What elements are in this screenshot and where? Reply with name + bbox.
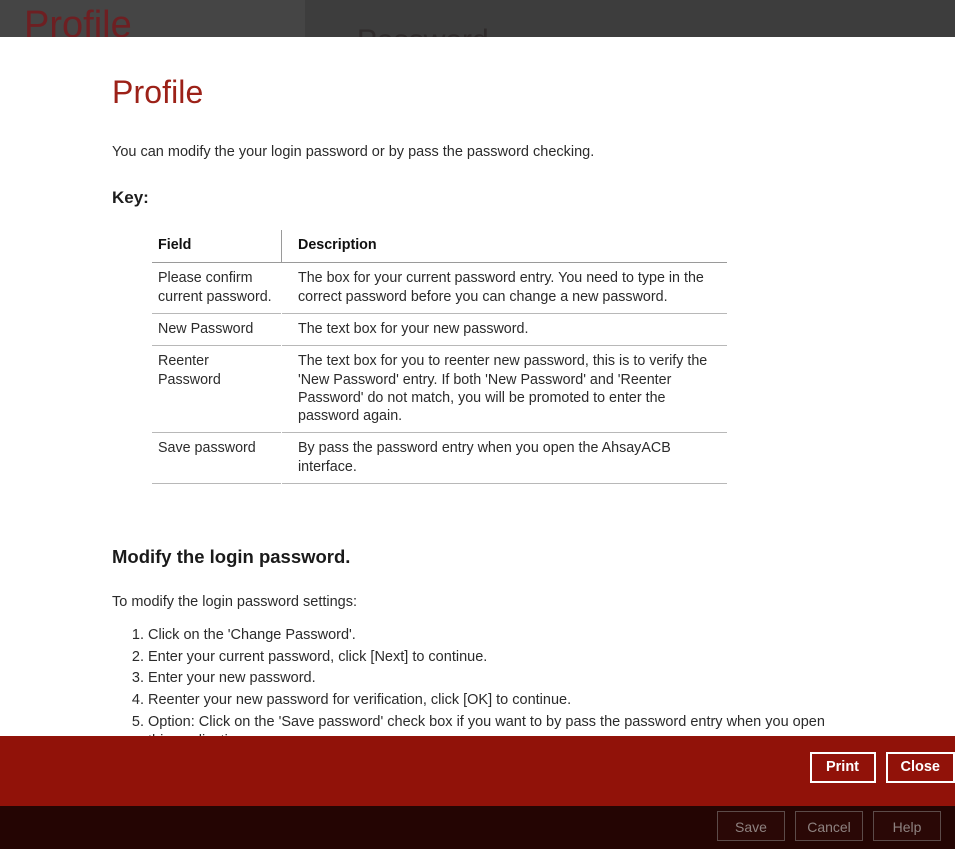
- table-row: New Password The text box for your new p…: [152, 313, 727, 345]
- key-table-wrapper: Field Description Please confirm current…: [112, 208, 955, 484]
- column-header-description: Description: [282, 230, 728, 263]
- intro-paragraph: You can modify the your login password o…: [112, 110, 955, 162]
- help-button[interactable]: Help: [873, 811, 941, 841]
- list-item: Enter your current password, click [Next…: [148, 648, 848, 670]
- cell-field: New Password: [152, 313, 282, 345]
- help-action-buttons: Print Close: [810, 752, 955, 783]
- screen-root: Profile Password Profile You can modify …: [0, 0, 955, 849]
- cell-field: Save password: [152, 433, 282, 484]
- key-heading: Key:: [112, 162, 955, 208]
- procedure-list: Click on the 'Change Password'. Enter yo…: [112, 610, 848, 736]
- tab-password[interactable]: Password: [305, 0, 705, 37]
- save-button[interactable]: Save: [717, 811, 785, 841]
- table-row: Please confirm current password. The box…: [152, 263, 727, 314]
- cancel-button[interactable]: Cancel: [795, 811, 863, 841]
- key-table-body: Please confirm current password. The box…: [152, 263, 727, 484]
- cell-description: The text box for you to reenter new pass…: [282, 346, 728, 433]
- cell-description: The box for your current password entry.…: [282, 263, 728, 314]
- page-title: Profile: [112, 37, 955, 110]
- help-overlay-panel: Profile You can modify the your login pa…: [0, 37, 955, 736]
- procedure-heading: Modify the login password.: [112, 484, 955, 568]
- procedure-intro: To modify the login password settings:: [112, 568, 955, 610]
- key-table: Field Description Please confirm current…: [152, 230, 727, 484]
- print-button[interactable]: Print: [810, 752, 876, 783]
- cell-description: By pass the password entry when you open…: [282, 433, 728, 484]
- list-item: Reenter your new password for verificati…: [148, 691, 848, 713]
- table-row: Reenter Password The text box for you to…: [152, 346, 727, 433]
- list-item: Option: Click on the 'Save password' che…: [148, 713, 848, 736]
- column-header-field: Field: [152, 230, 282, 263]
- close-button[interactable]: Close: [886, 752, 955, 783]
- list-item: Click on the 'Change Password'.: [148, 626, 848, 648]
- cell-description: The text box for your new password.: [282, 313, 728, 345]
- host-footer-bar: Save Cancel Help: [0, 806, 955, 849]
- host-tab-strip: Profile Password: [0, 0, 955, 37]
- key-table-head: Field Description: [152, 230, 727, 263]
- tab-profile[interactable]: Profile: [0, 0, 305, 37]
- cell-field: Reenter Password: [152, 346, 282, 433]
- list-item: Enter your new password.: [148, 669, 848, 691]
- table-row: Save password By pass the password entry…: [152, 433, 727, 484]
- table-header-row: Field Description: [152, 230, 727, 263]
- cell-field: Please confirm current password.: [152, 263, 282, 314]
- host-footer-buttons: Save Cancel Help: [717, 811, 941, 841]
- help-content: Profile You can modify the your login pa…: [0, 37, 955, 736]
- help-action-bar: Print Close: [0, 736, 955, 806]
